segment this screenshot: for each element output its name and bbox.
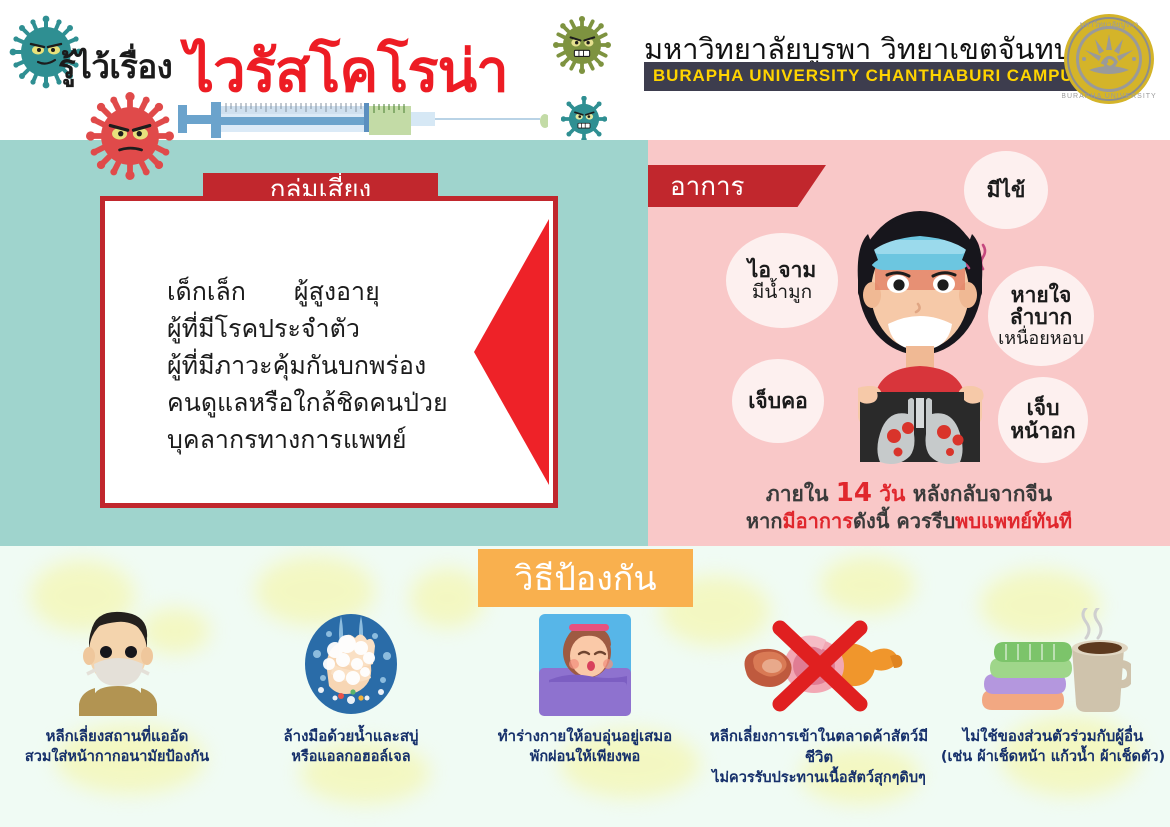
prevention-caption-mask: หลีกเลี่ยงสถานที่แออัด สวมใส่หน้ากากอนาม…: [25, 726, 209, 768]
risk-item-2: ผู้ที่มีโรคประจำตัว: [167, 310, 497, 347]
risk-group-box: เด็กเล็ก ผู้สูงอายุ ผู้ที่มีโรคประจำตัว …: [100, 196, 558, 508]
symptom-throat-label: เจ็บคอ: [748, 390, 807, 413]
symptom-bubble-sore-throat: เจ็บคอ: [732, 359, 824, 443]
symptoms-panel: อาการ: [648, 140, 1170, 546]
risk-item-5: บุคลากรทางการแพทย์: [167, 421, 497, 458]
symptoms-note: ภายใน 14 วัน หลังกลับจากจีน หากมีอาการดั…: [648, 480, 1170, 535]
risk-item-0: เด็กเล็ก: [167, 273, 246, 310]
virus-olive-icon: [553, 16, 611, 74]
symptom-breath-label-2: ลำบาก: [1010, 306, 1073, 329]
risk-item-3: ผู้ที่มีภาวะคุ้มกันบกพร่อง: [167, 347, 497, 384]
risk-group-list: เด็กเล็ก ผู้สูงอายุ ผู้ที่มีโรคประจำตัว …: [167, 273, 497, 458]
no-raw-meat-icon: [732, 608, 907, 716]
prevention-caption-rest: ทำร่างกายให้อบอุ่นอยู่เสมอ พักผ่อนให้เพี…: [498, 726, 672, 768]
decor-blob-6: [820, 556, 915, 614]
prevention-item-raw-meat: หลีกเลี่ยงการเข้าในตลาดค้าสัตว์มีชีวิต ไ…: [702, 608, 936, 823]
infographic-poster: รู้ไว้เรื่อง ไวรัสโคโรน่า: [0, 0, 1170, 827]
prevention-caption-handwash-line1: ล้างมือด้วยน้ำและสบู่: [283, 726, 418, 747]
prevention-item-no-sharing: ไม่ใช้ของส่วนตัวร่วมกับผู้อื่น (เช่น ผ้า…: [936, 608, 1170, 823]
prevention-item-mask: หลีกเลี่ยงสถานที่แออัด สวมใส่หน้ากากอนาม…: [0, 608, 234, 823]
header: รู้ไว้เรื่อง ไวรัสโคโรน่า: [0, 0, 1170, 140]
note-days-number: 14: [836, 478, 872, 508]
prevention-item-handwash: ล้างมือด้วยน้ำและสบู่ หรือแอลกอฮอล์เจล: [234, 608, 468, 823]
note-suffix: หลังกลับจากจีน: [913, 482, 1052, 506]
risk-line-row-1: เด็กเล็ก ผู้สูงอายุ: [167, 273, 497, 310]
symptom-fever-label: มีไข้: [987, 179, 1026, 202]
sleeping-person-icon: [529, 608, 641, 716]
symptoms-note-line-2: หากมีอาการดังนี้ ควรรีบพบแพทย์ทันที: [648, 508, 1170, 535]
symptom-breath-label-3: เหนื่อยหอบ: [998, 329, 1084, 348]
prevention-caption-no-sharing-line1: ไม่ใช้ของส่วนตัวร่วมกับผู้อื่น: [941, 726, 1165, 747]
note-prefix: ภายใน: [766, 482, 836, 506]
prevention-caption-mask-line2: สวมใส่หน้ากากอนามัยป้องกัน: [25, 747, 209, 768]
prevention-caption-handwash-line2: หรือแอลกอฮอล์เจล: [283, 747, 418, 768]
symptom-bubble-cough: ไอ จาม มีน้ำมูก: [726, 233, 838, 328]
virus-teal-small-icon: [561, 96, 607, 142]
note2-prefix: หาก: [746, 509, 783, 533]
prevention-caption-rest-line2: พักผ่อนให้เพียงพอ: [498, 747, 672, 768]
symptoms-note-line-1: ภายใน 14 วัน หลังกลับจากจีน: [648, 480, 1170, 508]
note2-middle: ดังนี้ ควรรีบ: [853, 509, 955, 533]
prevention-item-rest: ทำร่างกายให้อบอุ่นอยู่เสมอ พักผ่อนให้เพี…: [468, 608, 702, 823]
university-name-en: BURAPHA UNIVERSITY CHANTHABURI CAMPUS: [653, 66, 1086, 85]
masked-person-icon: [61, 608, 173, 716]
prevention-caption-rest-line1: ทำร่างกายให้อบอุ่นอยู่เสมอ: [498, 726, 672, 747]
handwash-icon: [295, 608, 407, 716]
university-seal-logo: มหาวิทยาลัยบูรพา BURAPHA UNIVERSITY: [1062, 12, 1156, 106]
prevention-caption-raw-meat-line1: หลีกเลี่ยงการเข้าในตลาดค้าสัตว์มีชีวิต: [702, 726, 936, 768]
prevention-banner-label: วิธีป้องกัน: [514, 551, 656, 605]
seal-text-thai: มหาวิทยาลัยบูรพา: [1080, 20, 1139, 29]
prevention-caption-raw-meat: หลีกเลี่ยงการเข้าในตลาดค้าสัตว์มีชีวิต ไ…: [702, 726, 936, 789]
prevention-banner: วิธีป้องกัน: [478, 549, 693, 607]
note2-highlight-2: พบแพทย์ทันที: [955, 509, 1072, 533]
sick-person-illustration: [830, 200, 1010, 465]
symptoms-banner-label: อาการ: [670, 166, 745, 207]
prevention-items: หลีกเลี่ยงสถานที่แออัด สวมใส่หน้ากากอนาม…: [0, 608, 1170, 823]
prevention-caption-handwash: ล้างมือด้วยน้ำและสบู่ หรือแอลกอฮอล์เจล: [283, 726, 418, 768]
prevention-caption-raw-meat-line2: ไม่ควรรับประทานเนื้อสัตว์สุกๆดิบๆ: [702, 768, 936, 789]
symptom-bubble-fever: มีไข้: [964, 151, 1048, 229]
no-sharing-icon: [976, 608, 1131, 716]
risk-group-panel: กลุ่มเสี่ยง เด็กเล็ก ผู้สูงอายุ ผู้ที่มี…: [0, 140, 648, 546]
risk-item-4: คนดูแลหรือใกล้ชิดคนป่วย: [167, 384, 497, 421]
symptom-cough-label-1: ไอ จาม: [748, 259, 816, 282]
prevention-caption-no-sharing-line2: (เช่น ผ้าเช็ดหน้า แก้วน้ำ ผ้าเช็ดตัว): [941, 747, 1165, 768]
symptom-chest-label-1: เจ็บ: [1027, 397, 1060, 420]
symptom-bubble-breathing: หายใจ ลำบาก เหนื่อยหอบ: [988, 266, 1094, 366]
symptom-chest-label-2: หน้าอก: [1010, 420, 1075, 443]
prevention-caption-no-sharing: ไม่ใช้ของส่วนตัวร่วมกับผู้อื่น (เช่น ผ้า…: [941, 726, 1165, 768]
symptoms-banner: อาการ: [648, 165, 826, 207]
note-days-unit: วัน: [872, 482, 913, 506]
prevention-panel: วิธีป้องกัน: [0, 546, 1170, 827]
header-subtitle: รู้ไว้เรื่อง: [58, 40, 172, 93]
risk-item-1: ผู้สูงอายุ: [294, 273, 380, 310]
seal-text-en: BURAPHA UNIVERSITY: [1062, 93, 1156, 100]
symptom-breath-label-1: หายใจ: [1011, 284, 1072, 307]
symptom-bubble-chest-pain: เจ็บ หน้าอก: [998, 377, 1088, 463]
prevention-caption-mask-line1: หลีกเลี่ยงสถานที่แออัด: [25, 726, 209, 747]
symptom-cough-label-2: มีน้ำมูก: [752, 282, 812, 303]
virus-red-icon: [86, 92, 174, 180]
page-title: ไวรัสโคโรน่า: [185, 24, 508, 117]
note2-highlight-1: มีอาการ: [782, 509, 853, 533]
university-name-en-badge: BURAPHA UNIVERSITY CHANTHABURI CAMPUS: [644, 62, 1095, 91]
